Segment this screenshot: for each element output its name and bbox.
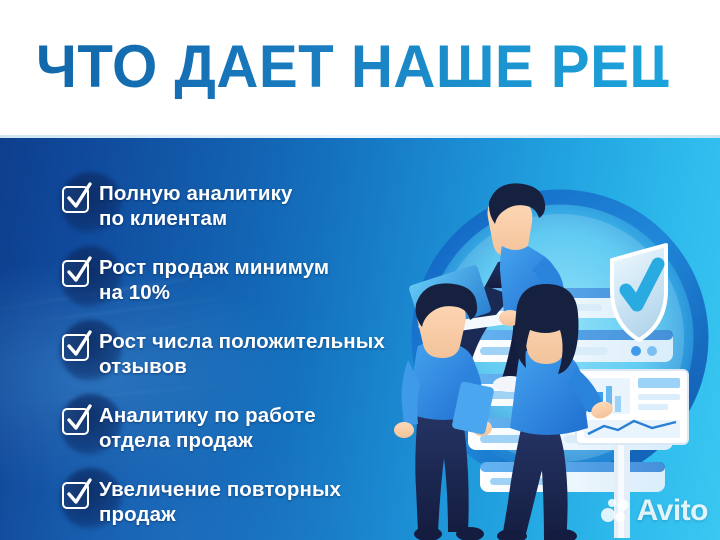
benefits-checklist: Полную аналитику по клиентам Рост продаж… [0, 138, 430, 540]
checkbox-checked-icon[interactable] [62, 482, 89, 509]
checkbox-checked-icon[interactable] [62, 408, 89, 435]
avito-dots-logo [600, 496, 630, 526]
list-item-label: Аналитику по работе отдела продаж [99, 404, 316, 453]
avito-watermark: Avito [600, 494, 708, 528]
page-title: ЧТО ДАЕТ НАШЕ РЕШЕНИЕ [36, 30, 668, 104]
poster-root: ЧТО ДАЕТ НАШЕ РЕШЕНИЕ [0, 0, 720, 540]
list-item-label: Полную аналитику по клиентам [99, 182, 292, 231]
list-item[interactable]: Полную аналитику по клиентам [62, 182, 292, 231]
list-item-label: Рост числа положительных отзывов [99, 330, 385, 379]
list-item[interactable]: Рост числа положительных отзывов [62, 330, 385, 379]
list-item-label: Рост продаж минимум на 10% [99, 256, 329, 305]
avito-watermark-text: Avito [637, 494, 708, 528]
checkbox-checked-icon[interactable] [62, 334, 89, 361]
list-item[interactable]: Рост продаж минимум на 10% [62, 256, 329, 305]
header-band: ЧТО ДАЕТ НАШЕ РЕШЕНИЕ [0, 0, 720, 138]
team-analytics-servers-illustration [390, 138, 720, 540]
checkbox-checked-icon[interactable] [62, 186, 89, 213]
list-item[interactable]: Увеличение повторных продаж [62, 478, 341, 527]
checkbox-checked-icon[interactable] [62, 260, 89, 287]
list-item[interactable]: Аналитику по работе отдела продаж [62, 404, 316, 453]
list-item-label: Увеличение повторных продаж [99, 478, 341, 527]
